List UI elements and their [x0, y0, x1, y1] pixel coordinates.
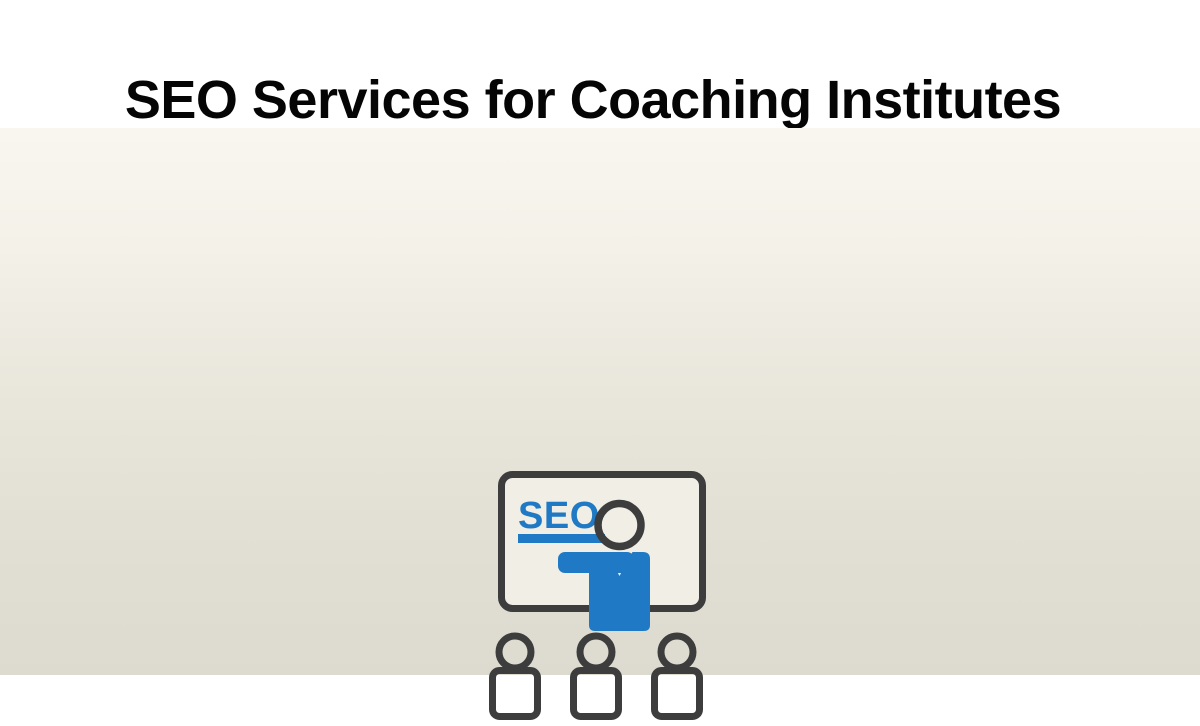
audience-head-2 [580, 636, 612, 668]
audience-head-1 [499, 636, 531, 668]
hero-section: SEO [0, 128, 1200, 675]
header-band: SEO Services for Coaching Institutes [0, 0, 1200, 128]
audience-figure-3 [655, 636, 700, 717]
audience-figure-1 [493, 636, 538, 717]
audience-figure-2 [574, 636, 619, 717]
audience-head-3 [661, 636, 693, 668]
page-root: SEO Services for Coaching Institutes SEO [0, 0, 1200, 675]
seo-presentation-illustration: SEO [484, 464, 716, 726]
audience-body-3 [655, 671, 700, 717]
audience-body-1 [493, 671, 538, 717]
audience-body-2 [574, 671, 619, 717]
board-underline-bar [518, 534, 605, 543]
board-seo-label: SEO [518, 495, 600, 537]
